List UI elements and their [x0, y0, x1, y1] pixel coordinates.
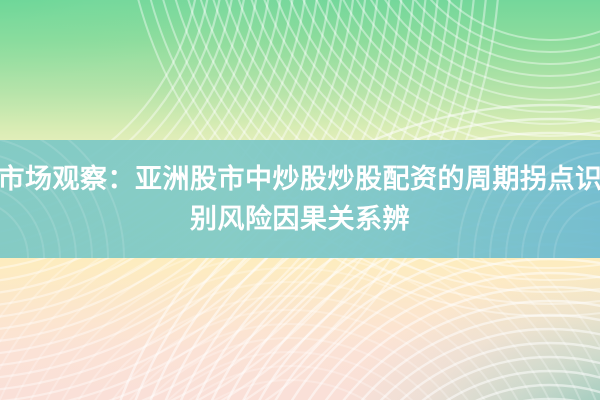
promo-banner: 市场观察：亚洲股市中炒股炒股配资的周期拐点识 别风险因果关系辨: [0, 0, 600, 400]
headline-line-2: 别风险因果关系辨: [190, 199, 410, 239]
banner-headline: 市场观察：亚洲股市中炒股炒股配资的周期拐点识 别风险因果关系辨: [0, 140, 600, 258]
headline-line-1: 市场观察：亚洲股市中炒股炒股配资的周期拐点识: [0, 159, 600, 199]
